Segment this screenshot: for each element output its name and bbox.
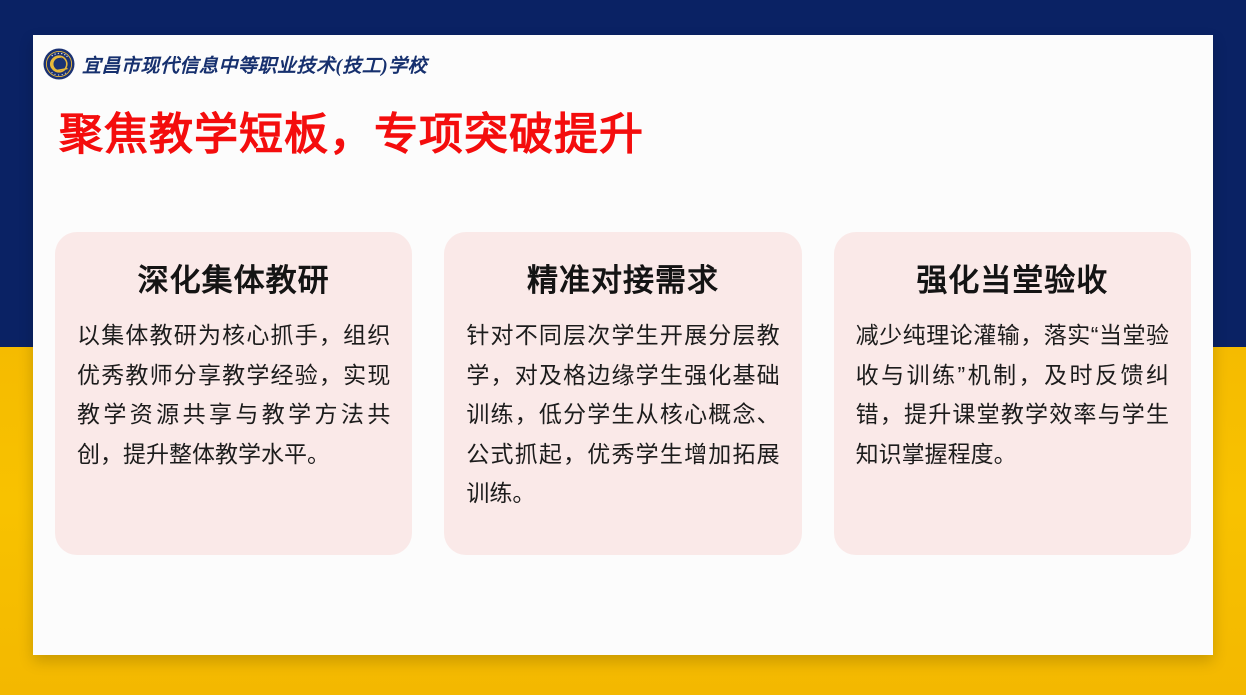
feature-card: 精准对接需求 针对不同层次学生开展分层教学，对及格边缘学生强化基础训练，低分学生… [444,232,801,555]
card-body-text: 以集体教研为核心抓手，组织优秀教师分享教学经验，实现教学资源共享与教学方法共创，… [77,316,390,474]
card-title: 强化当堂验收 [856,262,1169,299]
feature-card: 强化当堂验收 减少纯理论灌输，落实“当堂验收与训练”机制，及时反馈纠错，提升课堂… [834,232,1191,555]
card-body-text: 减少纯理论灌输，落实“当堂验收与训练”机制，及时反馈纠错，提升课堂教学效率与学生… [856,316,1169,474]
school-name-label: 宜昌市现代信息中等职业技术(技工)学校 [82,51,427,78]
brand-header: 宜昌市现代信息中等职业技术(技工)学校 [43,44,427,84]
presentation-slide: 宜昌市现代信息中等职业技术(技工)学校 聚焦教学短板，专项突破提升 深化集体教研… [0,0,1246,695]
page-title: 聚焦教学短板，专项突破提升 [59,107,644,162]
school-crest-icon [43,48,75,80]
feature-card: 深化集体教研 以集体教研为核心抓手，组织优秀教师分享教学经验，实现教学资源共享与… [55,232,412,555]
card-title: 深化集体教研 [77,262,390,299]
card-title: 精准对接需求 [466,262,779,299]
feature-card-group: 深化集体教研 以集体教研为核心抓手，组织优秀教师分享教学经验，实现教学资源共享与… [55,232,1191,555]
slide-content-sheet: 宜昌市现代信息中等职业技术(技工)学校 聚焦教学短板，专项突破提升 深化集体教研… [33,35,1213,655]
card-body-text: 针对不同层次学生开展分层教学，对及格边缘学生强化基础训练，低分学生从核心概念、公… [466,316,779,514]
